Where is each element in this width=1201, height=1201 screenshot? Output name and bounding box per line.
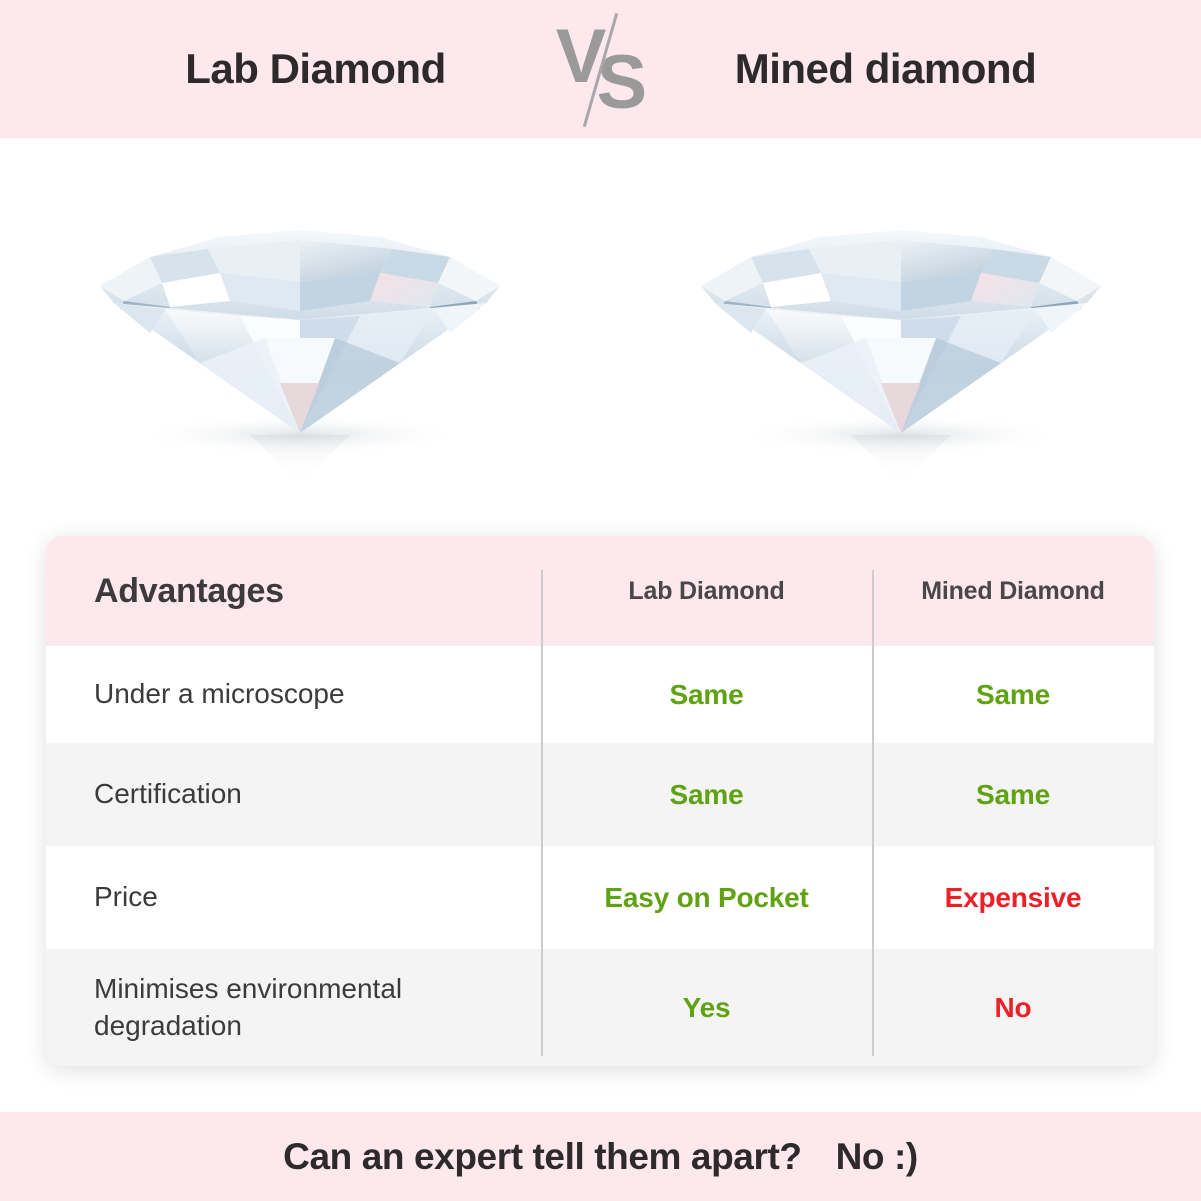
row-mined-cell: Same [872,679,1154,711]
lab-diamond-column-label: Lab Diamond [628,577,784,605]
row-mined-cell: Expensive [872,882,1154,914]
advantages-label: Advantages [94,572,284,610]
table-row: Under a microscope Same Same [46,646,1154,743]
comparison-table: Advantages Lab Diamond Mined Diamond Und… [46,536,1154,1066]
row-feature-cell: Minimises environmental degradation [46,971,541,1045]
column-divider-1 [541,570,543,1056]
header-cell-lab-diamond: Lab Diamond [541,577,872,606]
expert-question: Can an expert tell them apart? [283,1136,801,1178]
lab-value: Yes [683,992,731,1023]
header-cell-advantages: Advantages [46,572,541,611]
bottom-banner: Can an expert tell them apart? No :) [0,1112,1201,1201]
diamond-image-area [0,138,1201,528]
table-row: Certification Same Same [46,743,1154,846]
lab-value: Same [670,679,744,710]
row-feature-cell: Price [46,879,541,916]
row-mined-cell: No [872,992,1154,1024]
row-lab-cell: Easy on Pocket [541,882,872,914]
mined-value: Same [976,779,1050,810]
lab-diamond-image [90,183,510,483]
feature-label: Minimises environmental degradation [94,973,402,1041]
lab-value: Easy on Pocket [604,882,808,913]
lab-value: Same [670,779,744,810]
mined-diamond-image [691,183,1111,483]
mined-diamond-title: Mined diamond [671,45,1101,93]
feature-label: Price [94,881,158,912]
top-banner: Lab Diamond VS Mined diamond [0,0,1201,138]
row-lab-cell: Same [541,779,872,811]
table-row: Price Easy on Pocket Expensive [46,846,1154,949]
lab-diamond-title: Lab Diamond [101,45,531,93]
comparison-table-card: Advantages Lab Diamond Mined Diamond Und… [46,536,1154,1066]
row-lab-cell: Yes [541,992,872,1024]
expert-answer: No :) [836,1136,918,1178]
feature-label: Under a microscope [94,678,345,709]
mined-value: Same [976,679,1050,710]
column-divider-2 [872,570,874,1056]
row-feature-cell: Under a microscope [46,676,541,713]
header-cell-mined-diamond: Mined Diamond [872,577,1154,606]
table-header-row: Advantages Lab Diamond Mined Diamond [46,536,1154,646]
row-lab-cell: Same [541,679,872,711]
mined-value: No [995,992,1032,1023]
table-row: Minimises environmental degradation Yes … [46,949,1154,1066]
feature-label: Certification [94,778,242,809]
mined-diamond-column-label: Mined Diamond [921,577,1105,605]
mined-value: Expensive [945,882,1082,913]
versus-badge: VS [531,9,671,129]
row-feature-cell: Certification [46,776,541,813]
row-mined-cell: Same [872,779,1154,811]
